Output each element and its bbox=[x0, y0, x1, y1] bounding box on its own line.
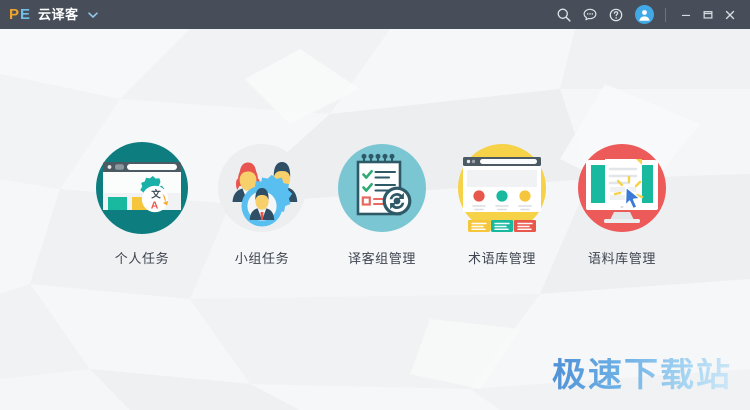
tile-label: 术语库管理 bbox=[468, 248, 536, 267]
search-icon[interactable] bbox=[551, 2, 577, 28]
minimize-button[interactable] bbox=[675, 4, 697, 26]
app-logo: PE bbox=[9, 7, 31, 22]
site-watermark: 极速下载站 bbox=[552, 358, 732, 392]
tile-label: 语料库管理 bbox=[588, 248, 656, 267]
module-tile-row: 文 A 个人任务 bbox=[0, 140, 750, 267]
tile-label: 个人任务 bbox=[115, 248, 169, 267]
title-bar-left: PE 云译客 bbox=[0, 7, 100, 22]
monitor-cursor-icon bbox=[574, 140, 670, 236]
team-gear-icon bbox=[214, 140, 310, 236]
help-icon[interactable] bbox=[603, 2, 629, 28]
maximize-button[interactable] bbox=[697, 4, 719, 26]
close-button[interactable] bbox=[719, 4, 741, 26]
term-diagram-icon bbox=[454, 140, 550, 236]
title-bar: PE 云译客 bbox=[0, 0, 750, 29]
logo-letter-e: E bbox=[20, 6, 31, 23]
title-bar-divider bbox=[665, 8, 666, 22]
app-window: PE 云译客 bbox=[0, 0, 750, 410]
checklist-sync-icon bbox=[334, 140, 430, 236]
avatar[interactable] bbox=[635, 5, 654, 24]
tile-personal-task[interactable]: 文 A 个人任务 bbox=[82, 140, 202, 267]
title-bar-right bbox=[551, 2, 750, 28]
app-title: 云译客 bbox=[38, 8, 79, 21]
tile-group-task[interactable]: 小组任务 bbox=[202, 140, 322, 267]
tile-label: 小组任务 bbox=[235, 248, 289, 267]
tile-corpus-management[interactable]: 语料库管理 bbox=[562, 140, 682, 267]
chevron-down-icon[interactable] bbox=[86, 8, 100, 22]
logo-letter-p: P bbox=[9, 6, 20, 23]
tile-label: 译客组管理 bbox=[348, 248, 416, 267]
tile-terminology-management[interactable]: 术语库管理 bbox=[442, 140, 562, 267]
message-icon[interactable] bbox=[577, 2, 603, 28]
tile-translator-group-management[interactable]: 译客组管理 bbox=[322, 140, 442, 267]
document-translate-icon: 文 A bbox=[94, 140, 190, 236]
svg-text:A: A bbox=[151, 200, 159, 212]
